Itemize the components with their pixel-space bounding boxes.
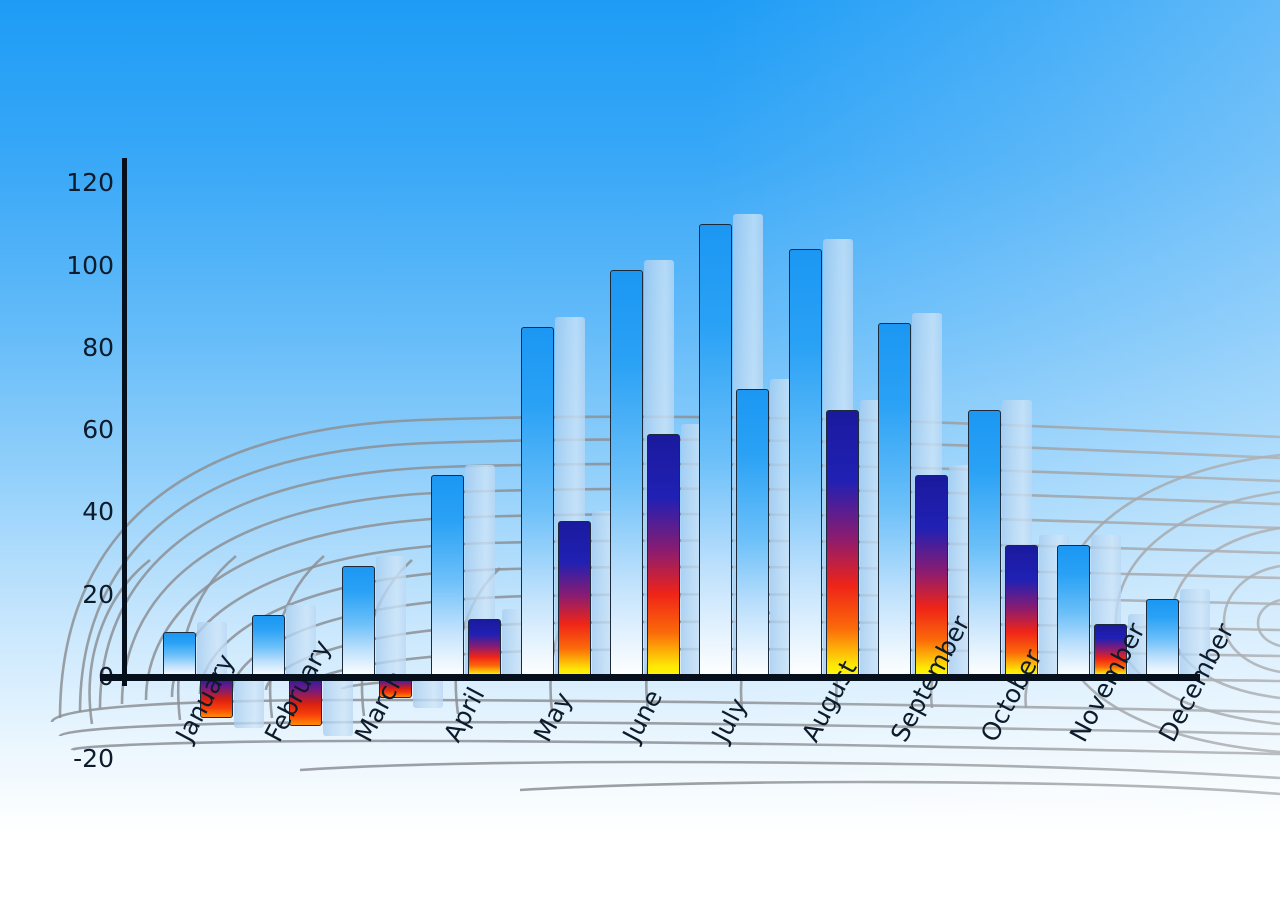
bar-group <box>0 0 1280 905</box>
y-tick-label-20: 20 <box>58 580 114 609</box>
y-tick-label-100: 100 <box>58 251 114 280</box>
y-tick-label-40: 40 <box>58 497 114 526</box>
y-tick-label-80: 80 <box>58 333 114 362</box>
chart-canvas: 120100806040200-20JanuaryFebruaryMarchAp… <box>0 0 1280 905</box>
y-axis-line <box>122 158 127 686</box>
y-tick-label-120: 120 <box>58 168 114 197</box>
y-tick-label-60: 60 <box>58 415 114 444</box>
x-axis-baseline <box>100 674 1200 681</box>
plot-area: 120100806040200-20JanuaryFebruaryMarchAp… <box>0 0 1280 905</box>
y-tick-label--20: -20 <box>58 744 114 773</box>
bar-december-series-1[interactable] <box>1146 599 1179 677</box>
